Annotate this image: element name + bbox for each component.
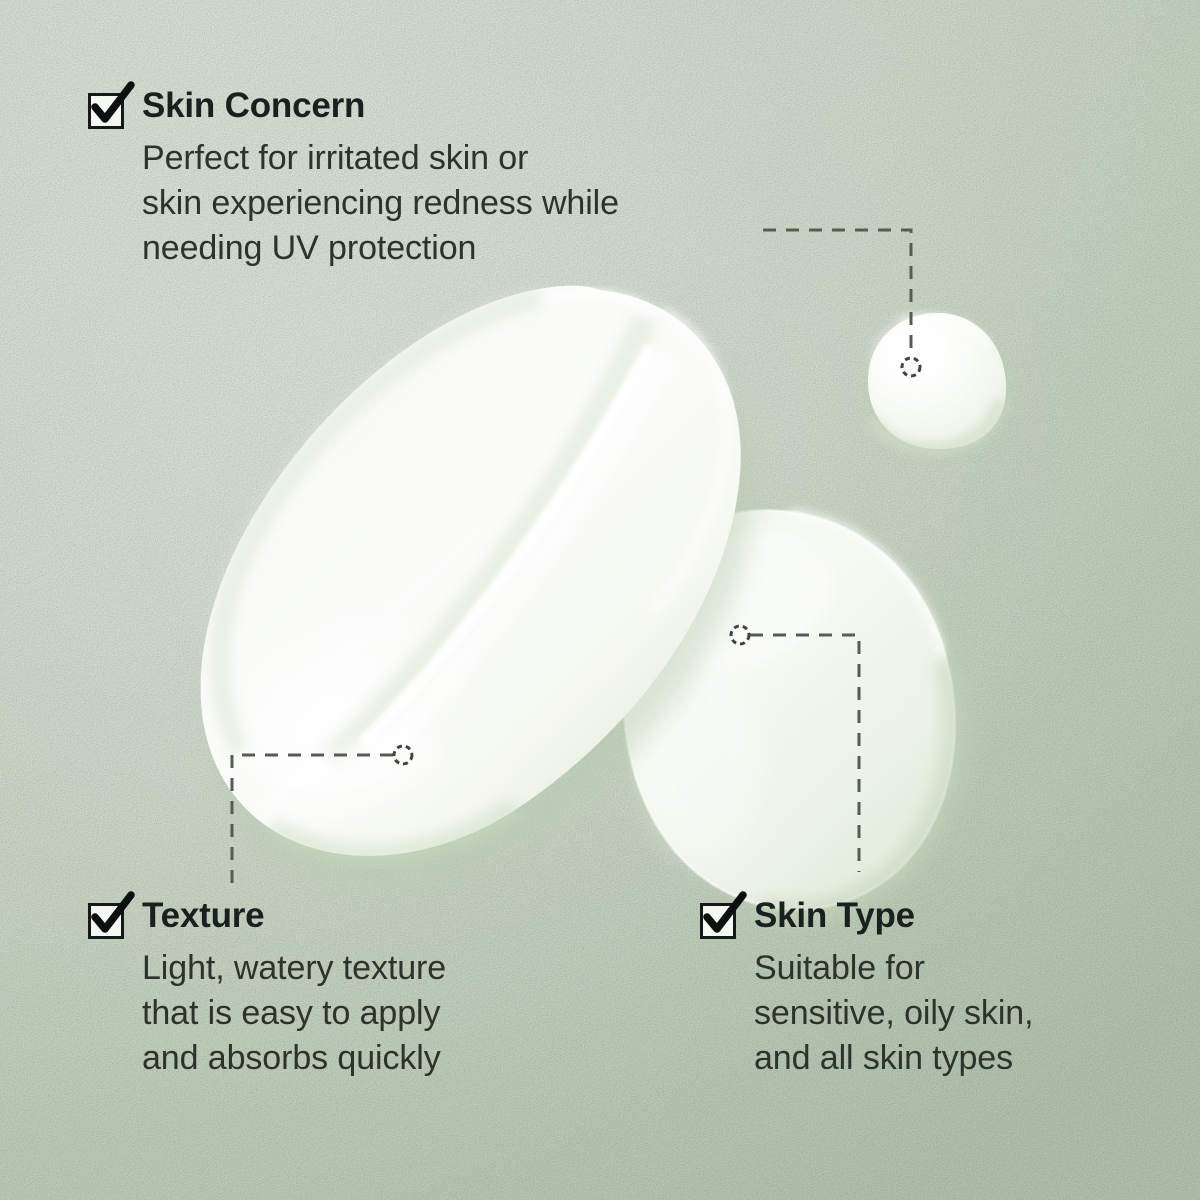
info-body-line: and absorbs quickly [142,1036,446,1081]
callout-marker-skin-type [731,626,749,644]
info-body-line: needing UV protection [142,226,619,271]
info-body-texture: Light, watery texture that is easy to ap… [142,946,446,1082]
info-heading-row: Skin Type [700,898,1033,939]
callout-marker-texture [394,746,412,764]
info-title-skin-type: Skin Type [754,898,915,935]
info-heading-row: Texture [88,898,446,939]
info-body-skin-type: Suitable for sensitive, oily skin, and a… [754,946,1033,1082]
checked-checkbox-icon [88,93,124,129]
callout-texture [232,746,412,884]
info-body-line: that is easy to apply [142,991,446,1036]
info-body-line: and all skin types [754,1036,1033,1081]
info-body-line: skin experiencing redness while [142,181,619,226]
info-body-skin-concern: Perfect for irritated skin or skin exper… [142,136,619,272]
callout-skin-type [731,626,859,872]
info-block-skin-concern: Skin Concern Perfect for irritated skin … [88,88,619,272]
infographic-canvas: Skin Concern Perfect for irritated skin … [0,0,1200,1200]
info-heading-row: Skin Concern [88,88,619,129]
checked-checkbox-icon [88,903,124,939]
info-body-line: Light, watery texture [142,946,446,991]
info-block-skin-type: Skin Type Suitable for sensitive, oily s… [700,898,1033,1082]
checked-checkbox-icon [700,903,736,939]
callout-marker-skin-concern [902,358,920,376]
info-title-skin-concern: Skin Concern [142,88,365,125]
info-title-texture: Texture [142,898,264,935]
callout-skin-concern [763,230,920,376]
info-block-texture: Texture Light, watery texture that is ea… [88,898,446,1082]
info-body-line: Perfect for irritated skin or [142,136,619,181]
info-body-line: Suitable for [754,946,1033,991]
info-body-line: sensitive, oily skin, [754,991,1033,1036]
